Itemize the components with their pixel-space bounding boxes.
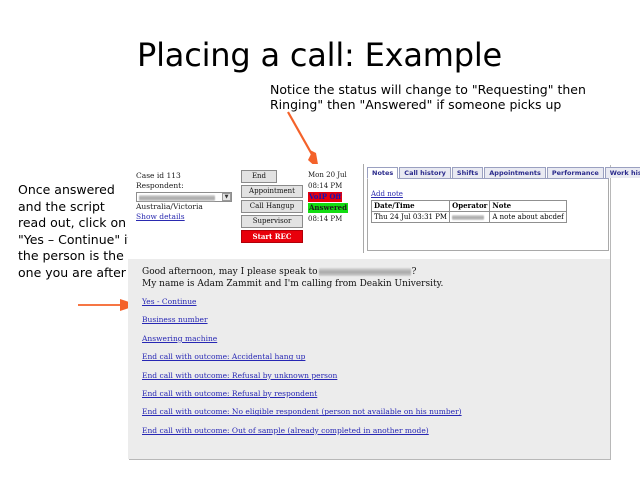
link-answering-machine[interactable]: Answering machine — [142, 334, 462, 344]
script-line-1: Good afternoon, may I please speak to? — [142, 266, 443, 278]
respondent-label: Respondent: — [136, 181, 236, 191]
status-date: Mon 20 Jul — [308, 170, 362, 181]
callout-status-note: Notice the status will change to "Reques… — [270, 82, 600, 112]
callout-continue-note: Once answered and the script read out, c… — [18, 182, 133, 281]
column-datetime: Date/Time — [372, 201, 450, 212]
tab-appointments[interactable]: Appointments — [484, 167, 546, 178]
show-details-link[interactable]: Show details — [136, 212, 185, 221]
supervisor-button[interactable]: Supervisor — [241, 215, 303, 228]
cell-note: A note about abcdef — [490, 212, 566, 223]
respondent-dropdown[interactable]: ▼ — [136, 192, 232, 202]
cell-operator — [450, 212, 490, 223]
script-line-1-after: ? — [412, 267, 417, 277]
tabs-panel: Notes Call history Shifts Appointments P… — [367, 167, 609, 251]
app-top-bar: Case id 113 Respondent: ▼ Australia/Vict… — [128, 164, 610, 253]
cell-datetime: Thu 24 Jul 03:31 PM — [372, 212, 450, 223]
tab-call-history[interactable]: Call history — [399, 167, 451, 178]
panel-divider — [363, 164, 364, 253]
appointment-button[interactable]: Appointment — [241, 185, 303, 198]
respondent-redacted-value — [139, 195, 215, 201]
tab-strip: Notes Call history Shifts Appointments P… — [367, 167, 609, 179]
link-outcome-no-eligible-respondent[interactable]: End call with outcome: No eligible respo… — [142, 407, 462, 417]
call-action-buttons: End Appointment Call Hangup Supervisor S… — [241, 170, 303, 245]
case-id-label: Case id 113 — [136, 171, 236, 181]
start-rec-button[interactable]: Start REC — [241, 230, 303, 243]
add-note-link[interactable]: Add note — [371, 190, 403, 199]
status-time-answered: 08:14 PM — [308, 214, 362, 225]
link-outcome-refusal-respondent[interactable]: End call with outcome: Refusal by respon… — [142, 389, 462, 399]
script-panel: Good afternoon, may I please speak to? M… — [128, 259, 610, 459]
table-row[interactable]: Thu 24 Jul 03:31 PM A note about abcdef — [372, 212, 567, 223]
table-header-row: Date/Time Operator Note — [372, 201, 567, 212]
arrow-pointing-to-status — [286, 110, 326, 172]
status-badge-answered: Answered — [308, 203, 348, 213]
case-details-block: Case id 113 Respondent: ▼ Australia/Vict… — [136, 171, 236, 222]
link-outcome-accidental-hang-up[interactable]: End call with outcome: Accidental hang u… — [142, 352, 462, 362]
chevron-down-icon[interactable]: ▼ — [222, 193, 231, 201]
script-outcome-links: Yes - Continue Business number Answering… — [142, 297, 462, 444]
tab-shifts[interactable]: Shifts — [452, 167, 483, 178]
status-time-start: 08:14 PM — [308, 181, 362, 192]
script-line-2: My name is Adam Zammit and I'm calling f… — [142, 278, 443, 290]
timezone-label: Australia/Victoria — [136, 202, 236, 212]
call-hangup-button[interactable]: Call Hangup — [241, 200, 303, 213]
link-yes-continue[interactable]: Yes - Continue — [142, 297, 462, 307]
end-button[interactable]: End — [241, 170, 277, 183]
link-outcome-refusal-unknown-person[interactable]: End call with outcome: Refusal by unknow… — [142, 371, 462, 381]
page-title: Placing a call: Example — [137, 36, 502, 74]
operator-redacted-value — [452, 215, 484, 220]
embedded-app-screenshot: Case id 113 Respondent: ▼ Australia/Vict… — [128, 164, 610, 459]
notes-tab-body: Add note Date/Time Operator Note Thu 24 … — [367, 179, 609, 251]
respondent-name-redacted — [319, 268, 411, 276]
column-operator: Operator — [450, 201, 490, 212]
call-status-block: Mon 20 Jul 08:14 PM VoIP Off Answered 08… — [308, 170, 362, 225]
tab-performance[interactable]: Performance — [547, 167, 604, 178]
link-business-number[interactable]: Business number — [142, 315, 462, 325]
tab-notes[interactable]: Notes — [367, 167, 398, 179]
script-line-1-before: Good afternoon, may I please speak to — [142, 267, 318, 277]
link-outcome-out-of-sample[interactable]: End call with outcome: Out of sample (al… — [142, 426, 462, 436]
status-badge-voip: VoIP Off — [308, 192, 342, 202]
script-text: Good afternoon, may I please speak to? M… — [142, 266, 443, 290]
notes-table: Date/Time Operator Note Thu 24 Jul 03:31… — [371, 200, 567, 223]
column-note: Note — [490, 201, 566, 212]
tab-work-history[interactable]: Work history — [605, 167, 640, 178]
